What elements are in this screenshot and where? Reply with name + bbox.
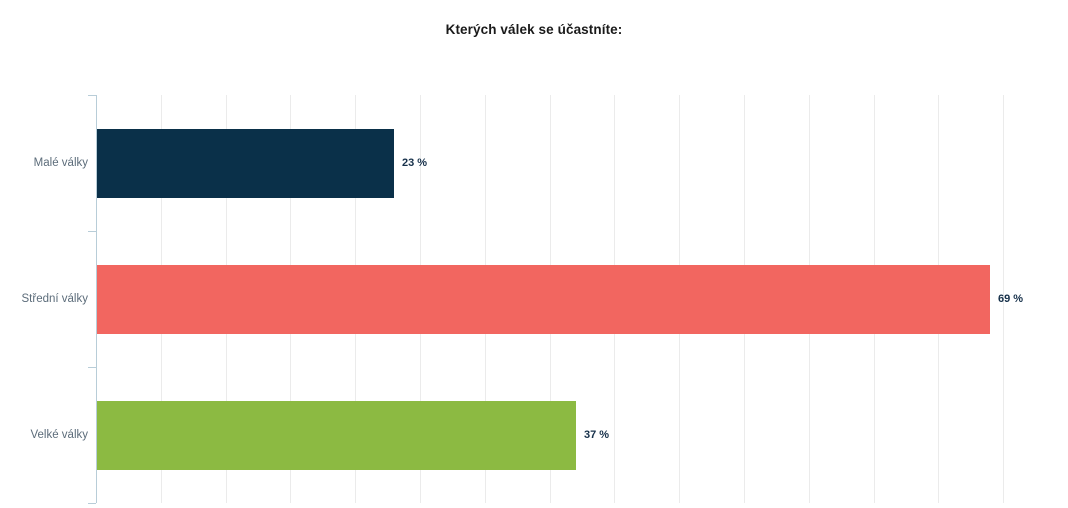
- bar-value-label: 37 %: [584, 429, 609, 441]
- bar[interactable]: [96, 401, 576, 470]
- y-axis-tick: [88, 95, 96, 96]
- y-axis-tick: [88, 503, 96, 504]
- category-label: Velké války: [0, 428, 88, 442]
- y-axis-tick: [88, 231, 96, 232]
- category-label: Střední války: [0, 292, 88, 306]
- chart-title: Kterých válek se účastníte:: [0, 22, 1068, 37]
- y-axis-line: [96, 95, 97, 503]
- bar-value-label: 69 %: [998, 293, 1023, 305]
- y-axis-tick: [88, 367, 96, 368]
- bar[interactable]: [96, 129, 394, 198]
- category-label: Malé války: [0, 156, 88, 170]
- bar-value-label: 23 %: [402, 157, 427, 169]
- bar[interactable]: [96, 265, 990, 334]
- bar-chart: Kterých válek se účastníte: 23 %69 %37 %…: [0, 0, 1068, 508]
- plot-area: 23 %69 %37 %: [96, 95, 1068, 503]
